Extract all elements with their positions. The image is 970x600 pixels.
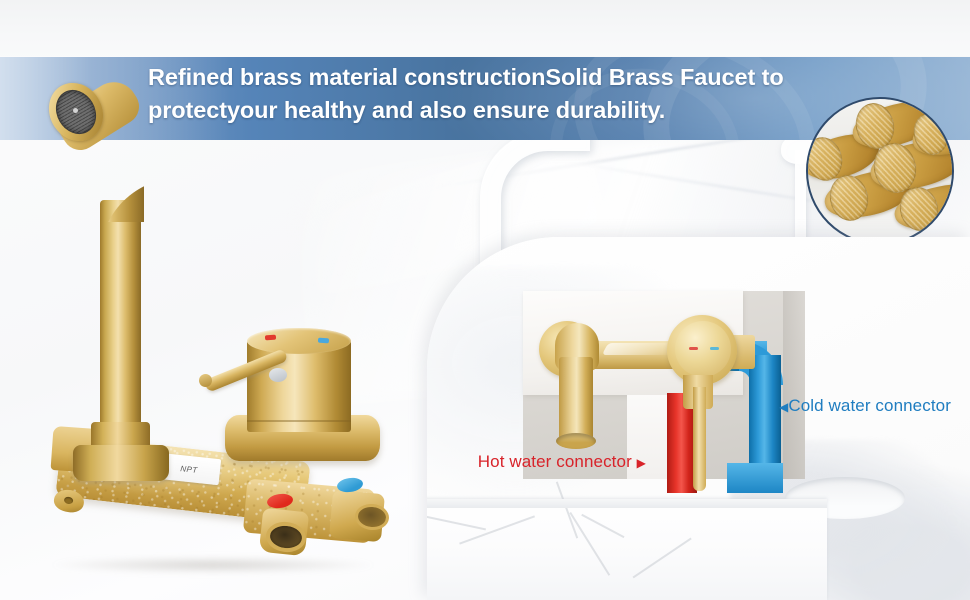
hot-water-connector-label: Hot water connector ▶ (431, 452, 646, 472)
valve-top-face (247, 328, 351, 354)
diagram-valve-knob (675, 321, 731, 377)
cold-indicator-dot (318, 338, 329, 344)
faucet-inlet-ports (245, 470, 425, 580)
hot-water-connector-text: Hot water connector (478, 452, 632, 471)
countertop-front-lip (427, 499, 827, 508)
marble-vein (427, 506, 486, 531)
background-top-strip (0, 0, 970, 60)
product-marketing-image: Refined brass material constructionSolid… (0, 0, 970, 600)
marble-countertop (427, 499, 827, 600)
handle-lever-cap (199, 374, 212, 387)
hot-indicator-dot (265, 335, 276, 341)
cold-arrow-left-icon: ◀ (779, 400, 788, 414)
headline-line-1: Refined brass material constructionSolid… (148, 61, 848, 94)
cold-water-connector-text: Cold water connector (788, 396, 951, 415)
faucet-spout (28, 70, 198, 450)
installation-diagram-panel (427, 237, 970, 600)
diagram-cold-indicator-dot (710, 347, 719, 350)
diagram-spout-tip (556, 433, 596, 449)
marble-vein (570, 512, 610, 576)
handle-lever-hub (269, 368, 287, 382)
spout-tube (100, 200, 141, 458)
brass-rods-inset (806, 97, 954, 245)
marble-vein (459, 515, 535, 544)
marble-vein (633, 538, 692, 578)
headline-text: Refined brass material constructionSolid… (148, 61, 848, 127)
hot-arrow-right-icon: ▶ (637, 456, 646, 470)
diagram-valve-rod (693, 387, 706, 491)
wall-side-shadow (783, 291, 805, 479)
diagram-hot-indicator-dot (689, 347, 698, 350)
diagram-spout-downtube (559, 357, 593, 443)
marble-vein (581, 514, 624, 538)
headline-line-2: protectyour healthy and also ensure dura… (148, 94, 848, 127)
spout-base-flange (73, 445, 169, 481)
cold-water-pipe-bottom (727, 463, 783, 493)
cold-water-connector-label: ◀Cold water connector (779, 396, 969, 416)
npt-sticker-text: NPT (180, 464, 198, 475)
